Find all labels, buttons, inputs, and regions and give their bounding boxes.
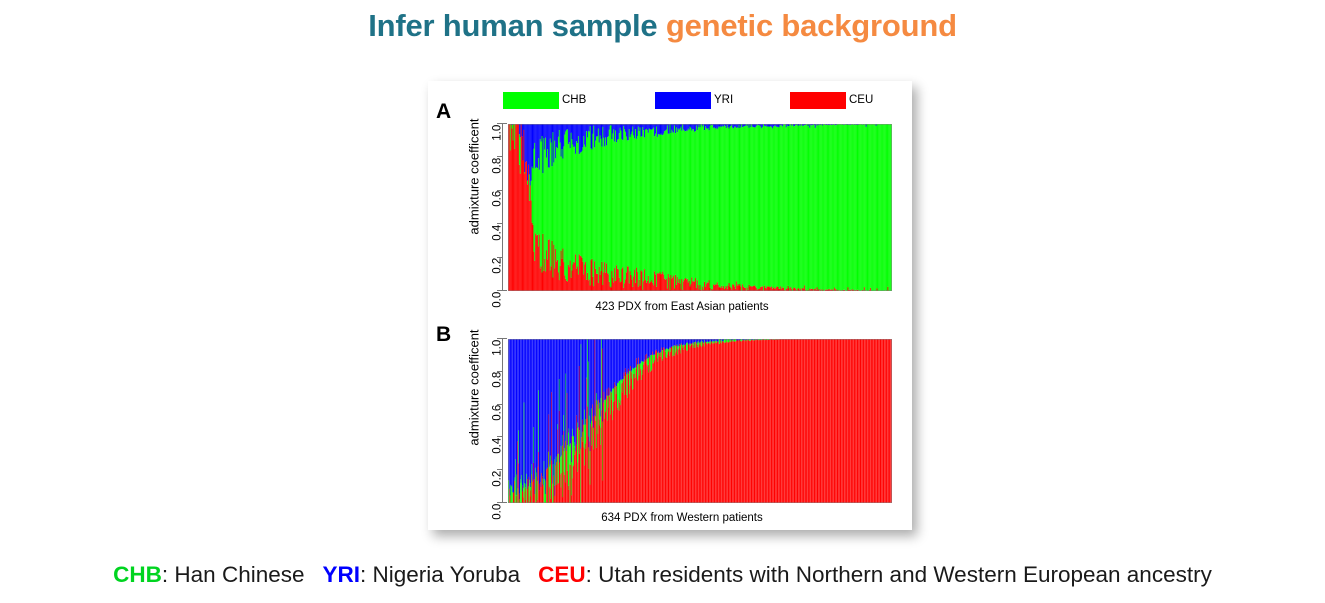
page-title: Infer human sample genetic background xyxy=(0,8,1325,44)
population-code-yri: YRI xyxy=(323,562,361,587)
legend-label-yri: YRI xyxy=(714,92,733,109)
chart-panel-a: admixture coefficent 0.00.20.40.60.81.0 … xyxy=(428,117,912,322)
y-tick-mark xyxy=(497,223,503,224)
y-axis-line-a xyxy=(502,124,503,291)
y-axis-cap xyxy=(502,123,507,124)
y-tick-mark xyxy=(497,257,503,258)
population-key: CHB: Han ChineseYRI: Nigeria YorubaCEU: … xyxy=(0,562,1325,588)
figure-card: CHB YRI CEU A B admixture coefficent 0.0… xyxy=(428,81,912,530)
population-text-yri: : Nigeria Yoruba xyxy=(360,562,520,587)
chart-legend: CHB YRI CEU xyxy=(428,90,912,112)
legend-swatch-chb xyxy=(503,92,559,109)
y-axis-cap xyxy=(502,502,507,503)
y-tick-mark xyxy=(497,190,503,191)
legend-label-ceu: CEU xyxy=(849,92,873,109)
population-code-ceu: CEU xyxy=(538,562,586,587)
legend-item-ceu: CEU xyxy=(790,90,873,110)
population-code-chb: CHB xyxy=(113,562,162,587)
population-key-chb: CHB: Han Chinese xyxy=(113,562,304,587)
structure-plot-b xyxy=(508,339,892,503)
x-axis-caption-b: 634 PDX from Western patients xyxy=(472,512,892,524)
legend-swatch-ceu xyxy=(790,92,846,109)
page-title-part1: Infer human sample xyxy=(368,8,666,43)
population-key-yri: YRI: Nigeria Yoruba xyxy=(323,562,521,587)
y-axis-cap xyxy=(502,290,507,291)
legend-item-yri: YRI xyxy=(655,90,733,110)
y-axis-cap xyxy=(502,338,507,339)
population-text-chb: : Han Chinese xyxy=(162,562,305,587)
legend-label-chb: CHB xyxy=(562,92,586,109)
page-title-part2: genetic background xyxy=(666,8,957,43)
y-tick-mark xyxy=(497,436,503,437)
y-axis-line-b xyxy=(502,339,503,503)
y-tick-mark xyxy=(497,404,503,405)
population-key-ceu: CEU: Utah residents with Northern and We… xyxy=(538,562,1212,587)
structure-plot-a xyxy=(508,124,892,291)
chart-panel-b: admixture coefficent 0.00.20.40.60.81.0 … xyxy=(428,334,912,530)
y-tick-mark xyxy=(497,371,503,372)
legend-item-chb: CHB xyxy=(503,90,586,110)
population-text-ceu: : Utah residents with Northern and Weste… xyxy=(586,562,1212,587)
x-axis-caption-a: 423 PDX from East Asian patients xyxy=(472,301,892,313)
y-tick-mark xyxy=(497,469,503,470)
y-tick-mark xyxy=(497,156,503,157)
legend-swatch-yri xyxy=(655,92,711,109)
